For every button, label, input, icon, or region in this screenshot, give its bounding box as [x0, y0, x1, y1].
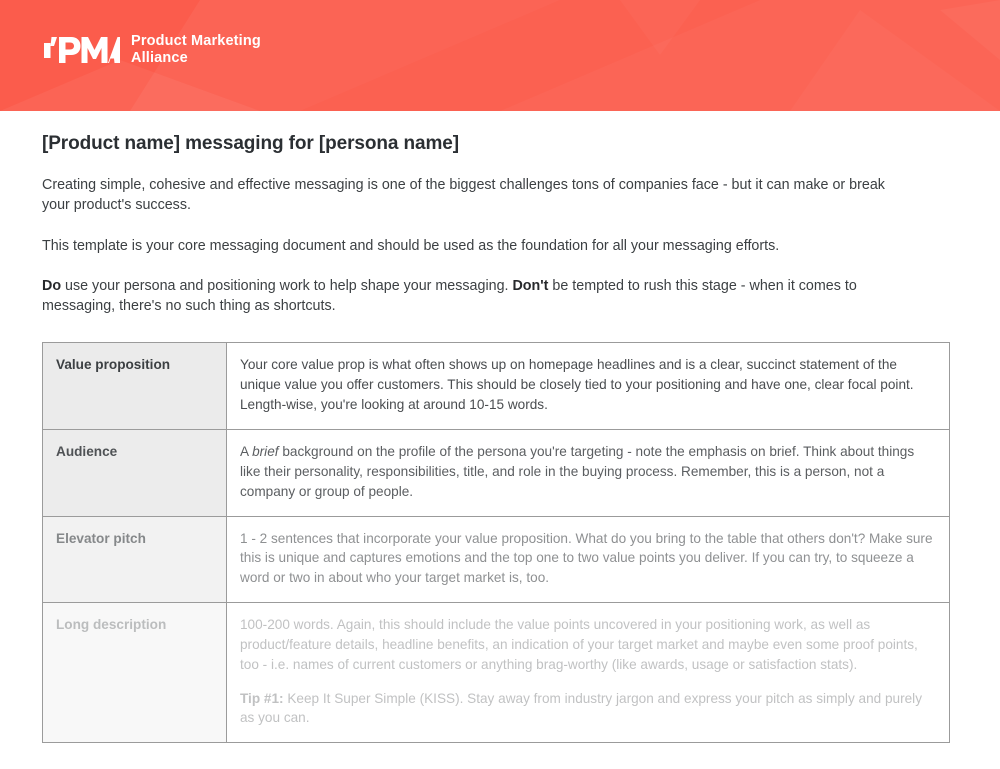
pma-logo-wordmark: Product Marketing Alliance	[131, 33, 261, 67]
table-row: Elevator pitch 1 - 2 sentences that inco…	[43, 516, 950, 603]
dont-label: Don't	[512, 278, 548, 294]
messaging-table: Value proposition Your core value prop i…	[42, 342, 950, 743]
table-row: Audience A brief background on the profi…	[43, 430, 950, 517]
do-label: Do	[42, 278, 61, 294]
row-label-long-description: Long description	[43, 603, 227, 743]
page-header-banner: Product Marketing Alliance	[0, 0, 1000, 111]
page-title: [Product name] messaging for [persona na…	[42, 111, 958, 155]
do-dont-paragraph: Do use your persona and positioning work…	[42, 256, 914, 317]
table-row: Value proposition Your core value prop i…	[43, 343, 950, 430]
row-body-long-description[interactable]: 100-200 words. Again, this should includ…	[227, 603, 950, 743]
row-label-audience: Audience	[43, 430, 227, 517]
tip-text: Keep It Super Simple (KISS). Stay away f…	[240, 691, 922, 726]
table-row: Long description 100-200 words. Again, t…	[43, 603, 950, 743]
do-text: use your persona and positioning work to…	[61, 278, 512, 294]
intro-paragraph-2: This template is your core messaging doc…	[42, 216, 914, 256]
row-body-elevator-pitch[interactable]: 1 - 2 sentences that incorporate your va…	[227, 516, 950, 603]
intro-paragraph-1: Creating simple, cohesive and effective …	[42, 155, 914, 216]
pma-logo: Product Marketing Alliance	[44, 33, 261, 67]
row-label-elevator-pitch: Elevator pitch	[43, 516, 227, 603]
logo-line-1: Product Marketing	[131, 33, 261, 50]
row-label-value-proposition: Value proposition	[43, 343, 227, 430]
row-body-value-proposition[interactable]: Your core value prop is what often shows…	[227, 343, 950, 430]
audience-text-emphasis: brief	[252, 444, 278, 459]
pma-logo-mark-icon	[44, 34, 120, 65]
row-body-audience[interactable]: A brief background on the profile of the…	[227, 430, 950, 517]
logo-line-2: Alliance	[131, 50, 261, 67]
document-body: [Product name] messaging for [persona na…	[0, 111, 1000, 743]
audience-text-post: background on the profile of the persona…	[240, 444, 914, 499]
audience-text-pre: A	[240, 444, 252, 459]
long-description-text: 100-200 words. Again, this should includ…	[240, 617, 918, 672]
tip-label: Tip #1:	[240, 691, 284, 706]
tip-line: Tip #1: Keep It Super Simple (KISS). Sta…	[240, 689, 936, 729]
